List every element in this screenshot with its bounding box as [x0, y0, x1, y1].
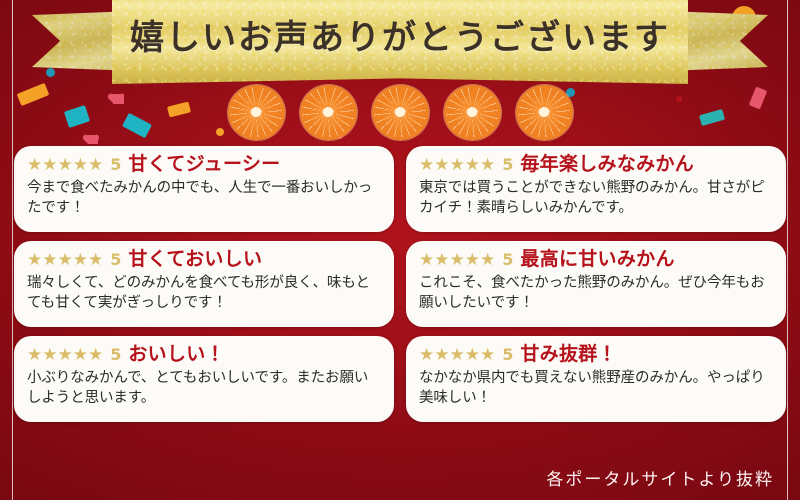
rating-score: 5	[110, 157, 121, 173]
orange-core	[539, 107, 550, 117]
orange-slice-icon	[516, 85, 573, 140]
review-card-grid: ★★★★★5甘くてジューシー今まで食べたみかんの中でも、人生で一番おいしかったで…	[14, 146, 786, 422]
review-title: おいしい！	[128, 344, 225, 365]
source-attribution: 各ポータルサイトより抜粋	[546, 465, 774, 490]
review-title: 甘くてジューシー	[128, 154, 280, 175]
orange-core	[251, 107, 262, 117]
gold-ribbon: 嬉しいお声ありがとうございます	[0, 0, 800, 88]
review-body: 今まで食べたみかんの中でも、人生で一番おいしかったです！	[27, 178, 381, 219]
rating-score: 5	[502, 347, 513, 363]
orange-slice-icon	[372, 85, 429, 140]
review-card: ★★★★★5甘くてジューシー今まで食べたみかんの中でも、人生で一番おいしかったで…	[14, 146, 394, 232]
orange-slice-icon	[228, 85, 285, 140]
review-card-header: ★★★★★5甘み抜群！	[419, 344, 773, 365]
star-rating-icon: ★★★★★	[27, 157, 103, 174]
review-body: これこそ、食べたかった熊野のみかん。ぜひ今年もお願いしたいです！	[419, 273, 773, 314]
review-body: 瑞々しくて、どのみかんを食べても形が良く、味もとても甘くて実がぎっしりです！	[27, 273, 381, 314]
rating-score: 5	[502, 157, 513, 173]
review-card: ★★★★★5甘み抜群！なかなか県内でも買えない熊野産のみかん。やっぱり美味しい！	[406, 336, 786, 422]
review-title: 甘み抜群！	[520, 344, 617, 365]
banner-headline: 嬉しいお声ありがとうございます	[0, 10, 800, 59]
review-card: ★★★★★5おいしい！小ぶりなみかんで、とてもおいしいです。またお願いしようと思…	[14, 336, 394, 422]
review-card-header: ★★★★★5甘くてジューシー	[27, 154, 381, 175]
review-card-header: ★★★★★5最高に甘いみかん	[419, 249, 773, 270]
orange-core	[467, 107, 478, 117]
testimonials-banner: 嬉しいお声ありがとうございます ★★★★★5甘くてジューシー今まで食べたみかんの…	[0, 0, 800, 500]
star-rating-icon: ★★★★★	[419, 252, 495, 269]
review-body: なかなか県内でも買えない熊野産のみかん。やっぱり美味しい！	[419, 368, 773, 409]
rating-score: 5	[110, 347, 121, 363]
review-card-header: ★★★★★5甘くておいしい	[27, 249, 381, 270]
star-rating-icon: ★★★★★	[27, 252, 103, 269]
review-body: 小ぶりなみかんで、とてもおいしいです。またお願いしようと思います。	[27, 368, 381, 409]
review-body: 東京では買うことができない熊野のみかん。甘さがピカイチ！素晴らしいみかんです。	[419, 178, 773, 219]
review-card-header: ★★★★★5毎年楽しみなみかん	[419, 154, 773, 175]
review-title: 毎年楽しみなみかん	[520, 154, 694, 175]
review-card: ★★★★★5毎年楽しみなみかん東京では買うことができない熊野のみかん。甘さがピカ…	[406, 146, 786, 232]
orange-core	[395, 107, 406, 117]
rating-score: 5	[110, 252, 121, 268]
orange-slice-row	[0, 82, 800, 142]
review-title: 最高に甘いみかん	[520, 249, 674, 270]
review-card-header: ★★★★★5おいしい！	[27, 344, 381, 365]
star-rating-icon: ★★★★★	[27, 347, 103, 364]
orange-core	[323, 107, 334, 117]
review-card: ★★★★★5甘くておいしい瑞々しくて、どのみかんを食べても形が良く、味もとても甘…	[14, 241, 394, 327]
review-title: 甘くておいしい	[128, 249, 262, 270]
rating-score: 5	[502, 252, 513, 268]
orange-slice-icon	[444, 85, 501, 140]
review-card: ★★★★★5最高に甘いみかんこれこそ、食べたかった熊野のみかん。ぜひ今年もお願い…	[406, 241, 786, 327]
orange-slice-icon	[300, 85, 357, 140]
star-rating-icon: ★★★★★	[419, 157, 495, 174]
star-rating-icon: ★★★★★	[419, 347, 495, 364]
